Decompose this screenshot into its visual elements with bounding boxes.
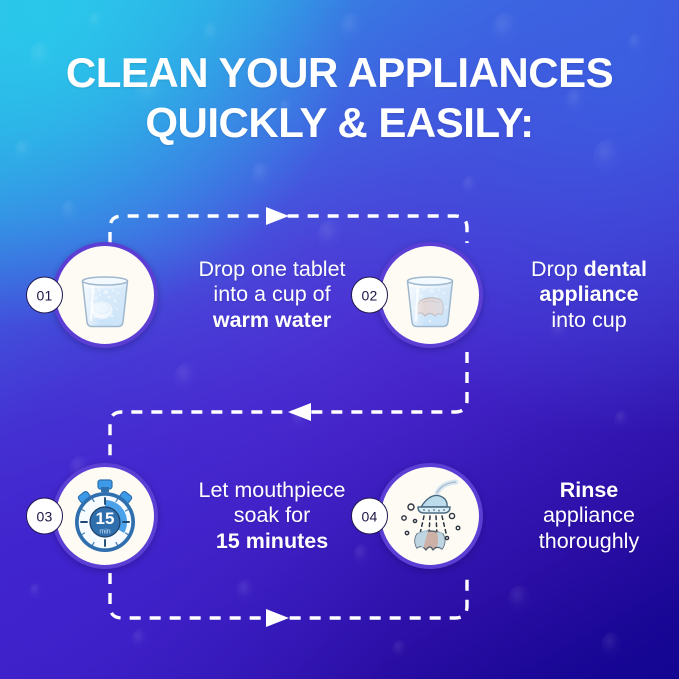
step-02-number-badge: 02 bbox=[351, 277, 388, 314]
title-line-2: QUICKLY & EASILY: bbox=[26, 98, 653, 148]
step-01-caption: Drop one tablet into a cup of warm water bbox=[182, 257, 362, 334]
step-02-caption-line-2: appliance bbox=[539, 282, 638, 306]
arrow-head-right-bottom bbox=[266, 609, 289, 627]
step-02-caption-line-1-normal: Drop bbox=[531, 257, 584, 281]
step-04-caption-line-2: appliance bbox=[505, 503, 673, 529]
title-line-1: CLEAN YOUR APPLIANCES bbox=[26, 48, 653, 98]
page-title: CLEAN YOUR APPLIANCES QUICKLY & EASILY: bbox=[0, 48, 679, 148]
step-01-caption-line-3: warm water bbox=[213, 308, 331, 332]
shower-rinse-icon bbox=[390, 476, 470, 556]
step-03-icon-bubble: 03 bbox=[52, 463, 158, 569]
infographic-poster: CLEAN YOUR APPLIANCES QUICKLY & EASILY: … bbox=[0, 0, 679, 679]
stopwatch-unit-label: min bbox=[99, 529, 110, 536]
step-03[interactable]: 03 bbox=[52, 463, 362, 569]
step-01-icon-bubble: 01 bbox=[52, 242, 158, 348]
step-04-caption-line-1: Rinse bbox=[560, 478, 619, 502]
step-03-caption-line-3: 15 minutes bbox=[216, 529, 328, 553]
step-04-caption-line-3: thoroughly bbox=[505, 529, 673, 555]
arrow-head-right-top bbox=[266, 207, 289, 225]
step-01-caption-line-2: into a cup of bbox=[182, 282, 362, 308]
step-03-caption: Let mouthpiece soak for 15 minutes bbox=[182, 478, 362, 555]
stopwatch-value-label: 15 bbox=[96, 509, 115, 528]
connector-step2-to-step3 bbox=[110, 352, 467, 466]
step-04-number-badge: 04 bbox=[351, 498, 388, 535]
step-01[interactable]: 01 bbox=[52, 242, 362, 348]
step-03-caption-line-2: soak for bbox=[182, 503, 362, 529]
connector-step1-to-step2 bbox=[110, 216, 467, 243]
glass-with-dental-appliance-icon bbox=[396, 259, 464, 331]
step-04-icon-bubble: 04 bbox=[377, 463, 483, 569]
connector-step3-to-step4 bbox=[110, 573, 467, 618]
step-04[interactable]: 04 bbox=[377, 463, 673, 569]
step-02-caption-line-3: into cup bbox=[505, 308, 673, 334]
step-04-caption: Rinse appliance thoroughly bbox=[505, 478, 673, 555]
step-02-caption-line-1-bold: dental bbox=[584, 257, 647, 281]
step-03-number-badge: 03 bbox=[26, 498, 63, 535]
step-02[interactable]: 02 bbox=[377, 242, 673, 348]
step-01-number-badge: 01 bbox=[26, 277, 63, 314]
step-02-icon-bubble: 02 bbox=[377, 242, 483, 348]
step-03-caption-line-1: Let mouthpiece bbox=[182, 478, 362, 504]
step-02-caption: Drop dental appliance into cup bbox=[505, 257, 673, 334]
glass-with-tablet-icon bbox=[71, 259, 139, 331]
stopwatch-icon: 15 min bbox=[65, 476, 145, 556]
arrow-head-left-middle bbox=[288, 403, 311, 421]
step-01-caption-line-1: Drop one tablet bbox=[182, 257, 362, 283]
